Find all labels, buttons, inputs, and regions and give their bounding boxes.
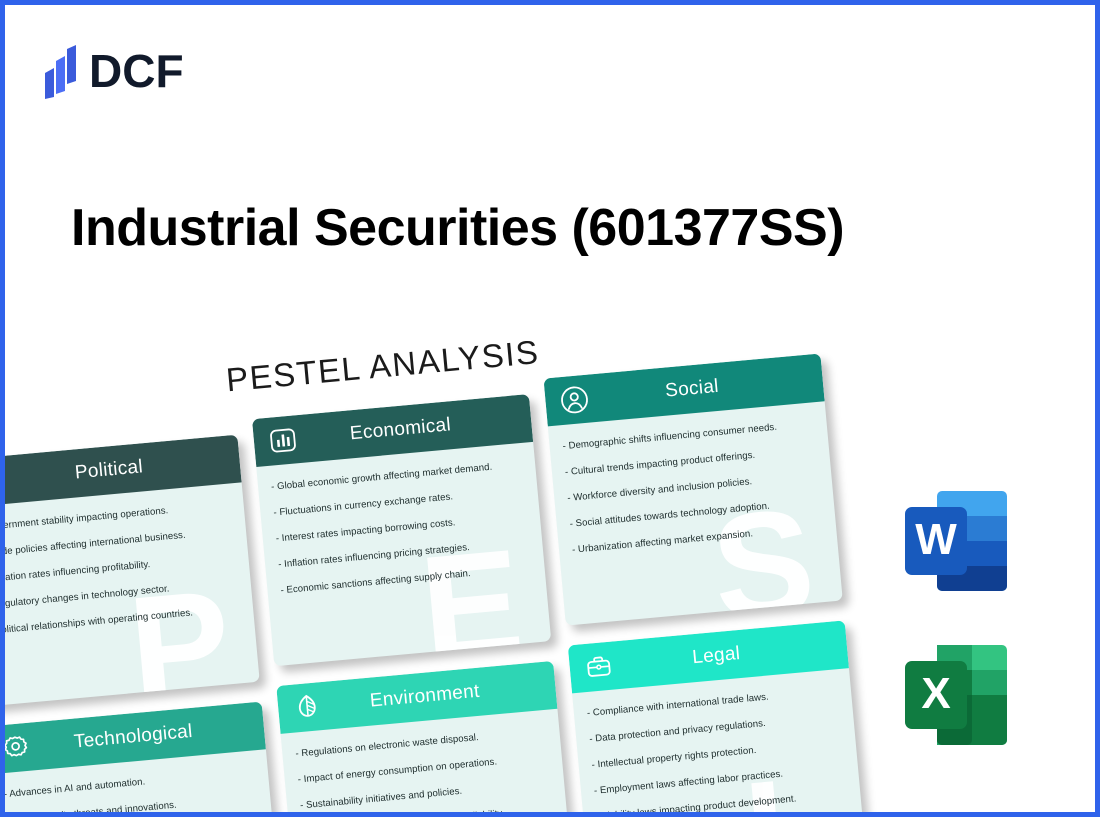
pestel-heading: PESTEL ANALYSIS [225,333,541,399]
card-body-political: P - Government stability impacting opera… [0,482,260,706]
gear-icon [0,732,32,765]
bullet-list-social: - Demographic shifts influencing consume… [562,418,823,556]
card-body-economical: E - Global economic growth affecting mar… [256,442,551,666]
page-frame: DCF Industrial Securities (601377SS) PES… [0,0,1100,817]
briefcase-icon [583,651,616,684]
card-body-social: S - Demographic shifts influencing consu… [548,401,843,625]
pestel-card-social[interactable]: Social S - Demographic shifts influencin… [543,353,842,625]
list-item: - Political relationships with operating… [0,603,241,638]
leaf-icon [291,691,324,724]
bullet-list-legal: - Compliance with international trade la… [586,685,847,817]
bullet-list-technological: - Advances in AI and automation. - Cyber… [3,766,262,817]
svg-text:X: X [921,669,950,718]
page-title: Industrial Securities (601377SS) [71,198,844,258]
bullet-list-political: - Government stability impacting operati… [0,500,241,638]
person-circle-icon [558,384,591,417]
pestel-card-legal[interactable]: Legal L - Compliance with international … [568,620,867,817]
pestel-card-political[interactable]: Political P - Government stability impac… [0,435,260,707]
word-document-icon[interactable]: W [901,485,1013,597]
dcf-bars-logo-icon [43,43,79,99]
card-body-legal: L - Compliance with international trade … [572,668,867,817]
svg-text:W: W [915,515,957,564]
brand-logo[interactable]: DCF [43,43,184,99]
bar-chart-icon [267,424,300,457]
pestel-card-economical[interactable]: Economical E - Global economic growth af… [252,394,551,666]
excel-spreadsheet-icon[interactable]: X [901,639,1013,751]
pestel-card-environment[interactable]: Environment E - Regulations on electroni… [276,661,575,817]
bullet-list-economical: - Global economic growth affecting marke… [271,459,532,597]
pestel-analysis-graphic: PESTEL ANALYSIS Political P - Government… [0,341,865,817]
brand-name: DCF [89,48,184,94]
bullet-list-environment: - Regulations on electronic waste dispos… [295,726,556,817]
pestel-card-technological[interactable]: Technological T - Advances in AI and aut… [0,702,284,817]
